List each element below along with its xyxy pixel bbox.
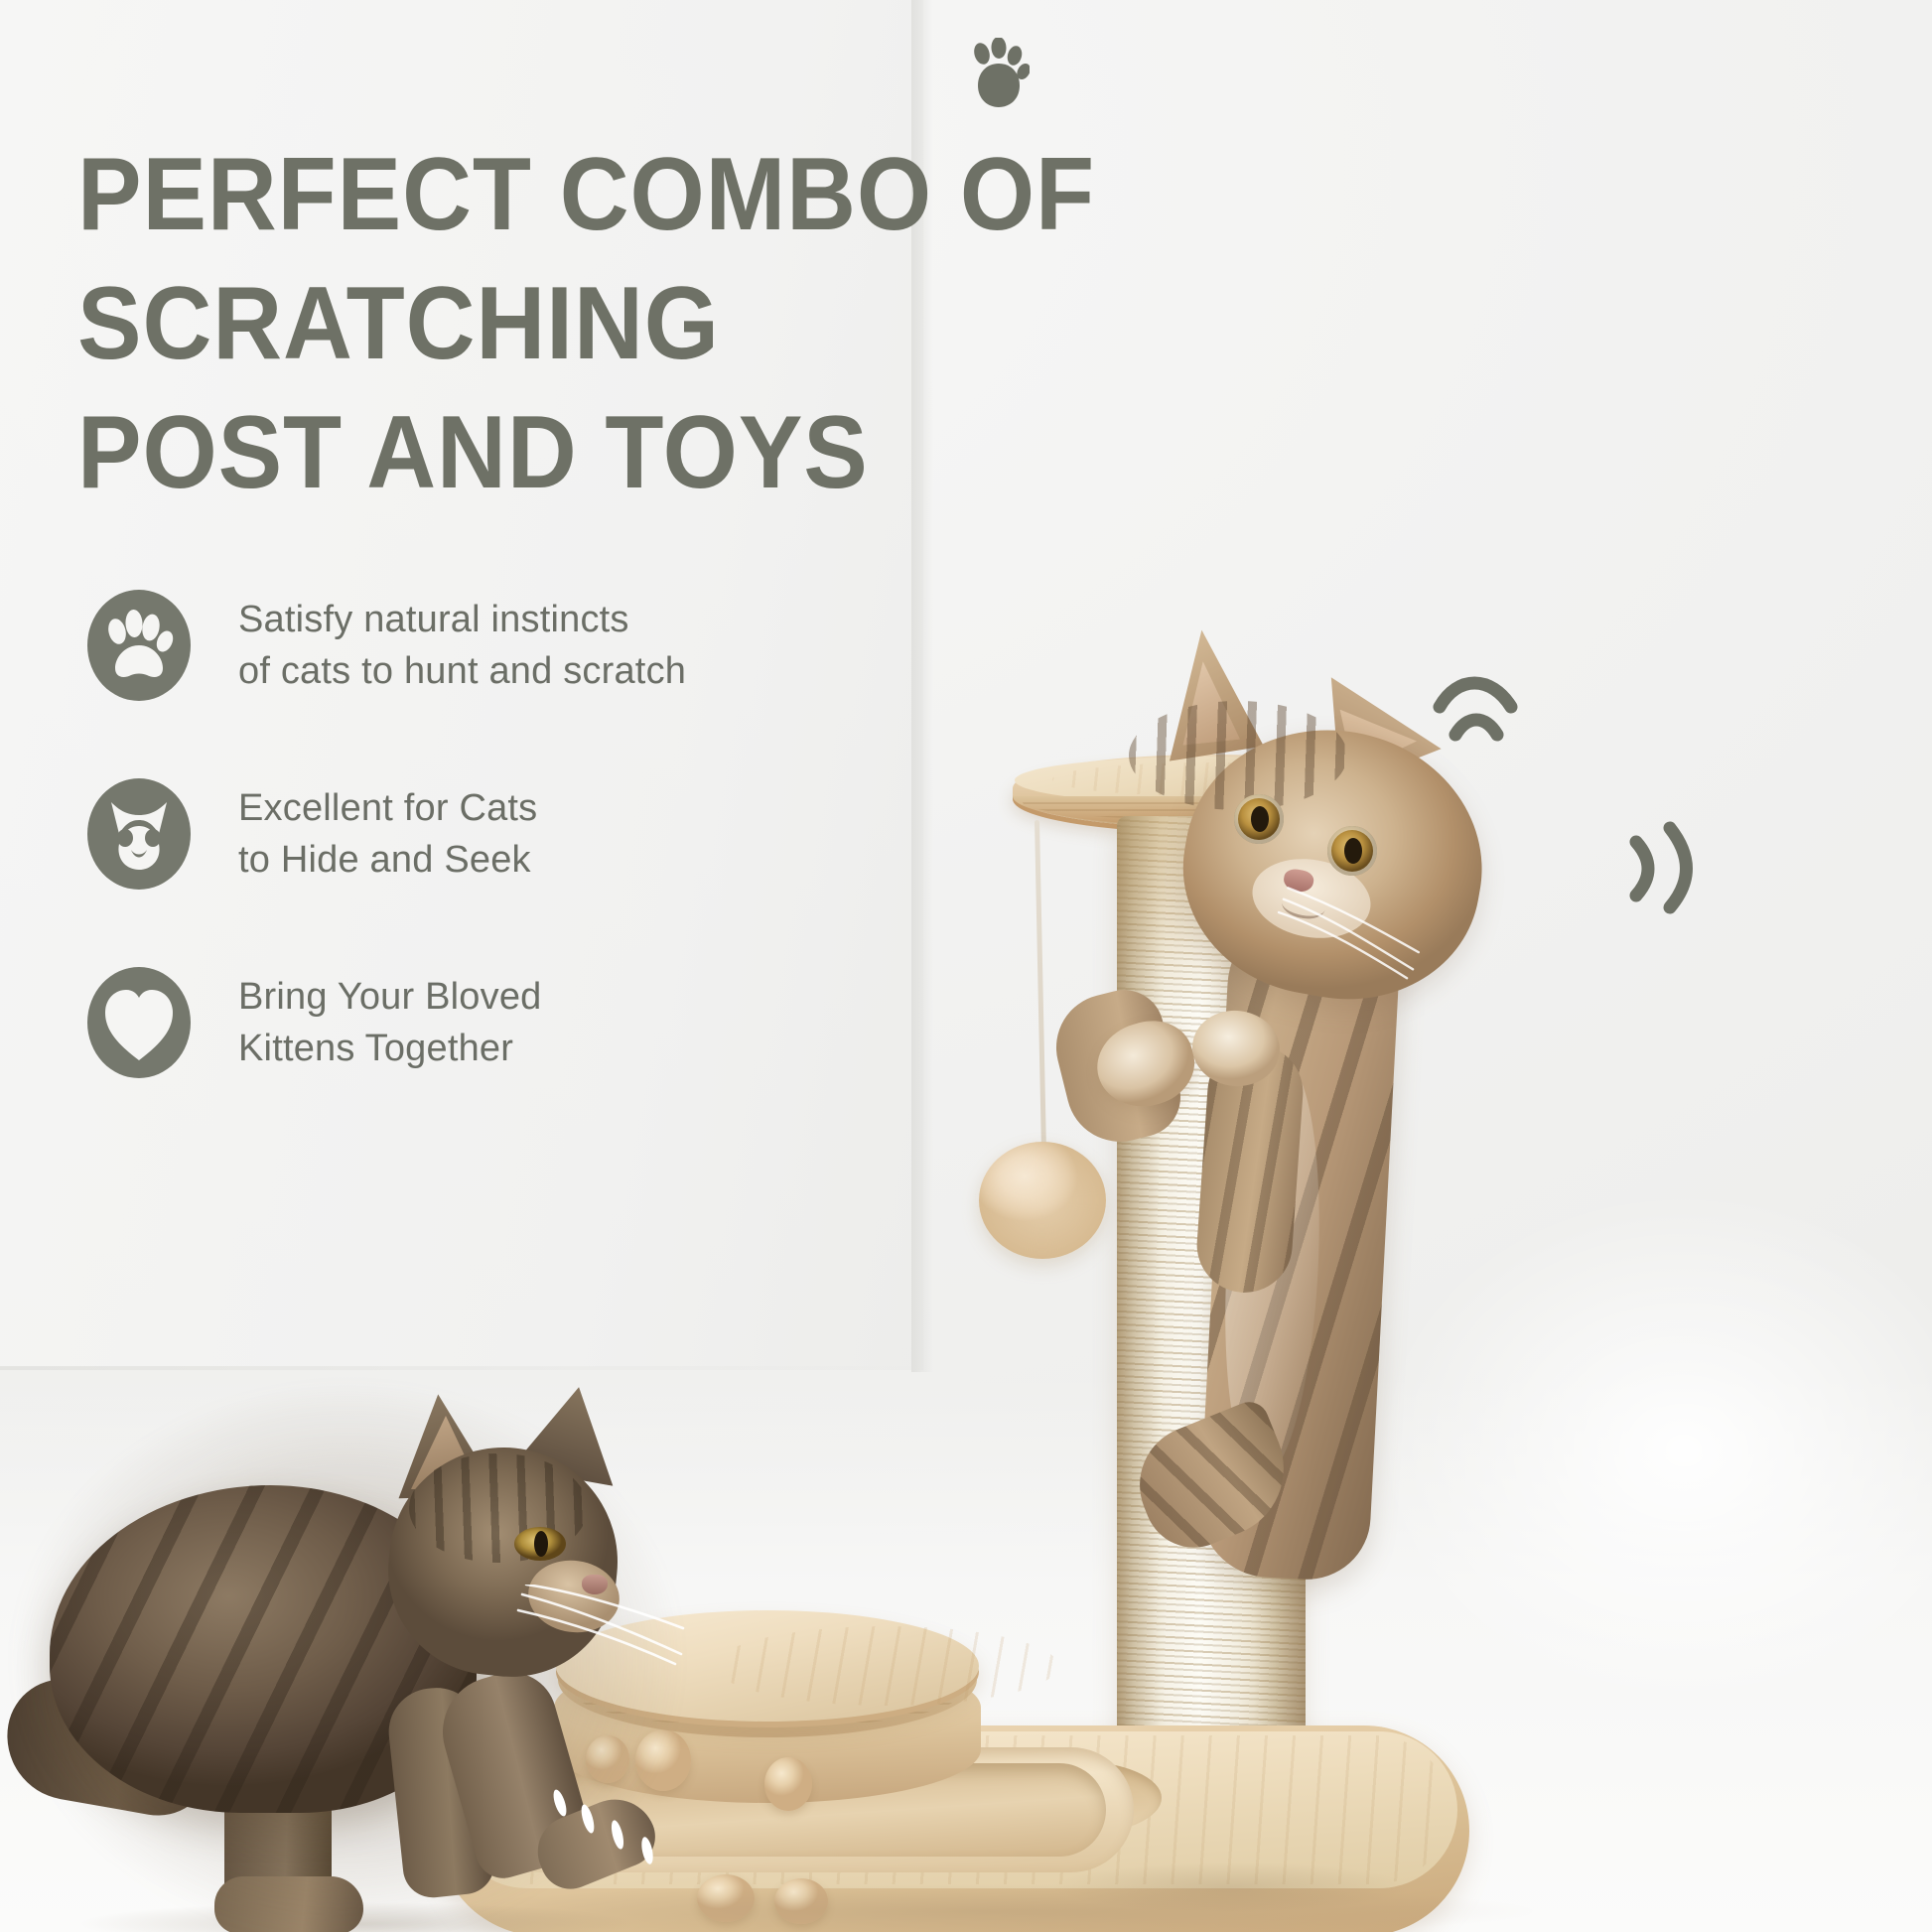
- product-banner: PERFECT COMBO OF SCRATCHING POST AND TOY…: [0, 0, 1932, 1932]
- feature-list: Satisfy natural instincts of cats to hun…: [85, 588, 820, 1154]
- feature-label-line-1: Bring Your Bloved: [238, 971, 542, 1023]
- feature-item: Excellent for Cats to Hide and Seek: [85, 776, 820, 892]
- page-title: PERFECT COMBO OF SCRATCHING POST AND TOY…: [77, 143, 1001, 504]
- feature-label-line-2: Kittens Together: [238, 1023, 542, 1074]
- paw-print-icon: [85, 588, 193, 703]
- feature-label: Bring Your Bloved Kittens Together: [238, 971, 542, 1074]
- feature-label-line-2: of cats to hunt and scratch: [238, 645, 686, 697]
- feature-label: Satisfy natural instincts of cats to hun…: [238, 594, 686, 697]
- paw-print-icon: [968, 38, 1030, 111]
- headline-line-1: PERFECT COMBO OF: [77, 143, 1001, 246]
- feature-label-line-1: Excellent for Cats: [238, 782, 537, 834]
- feature-label: Excellent for Cats to Hide and Seek: [238, 782, 537, 886]
- heart-icon: [85, 965, 193, 1080]
- feature-item: Bring Your Bloved Kittens Together: [85, 965, 820, 1080]
- feature-label-line-2: to Hide and Seek: [238, 834, 537, 886]
- feature-item: Satisfy natural instincts of cats to hun…: [85, 588, 820, 703]
- feature-label-line-1: Satisfy natural instincts: [238, 594, 686, 645]
- cat-face-icon: [85, 776, 193, 892]
- background-glow: [1376, 1191, 1932, 1708]
- headline-line-2: SCRATCHING: [77, 272, 1001, 375]
- headline-line-3: POST AND TOYS: [77, 401, 1001, 504]
- background-panel-baseline: [0, 1366, 935, 1370]
